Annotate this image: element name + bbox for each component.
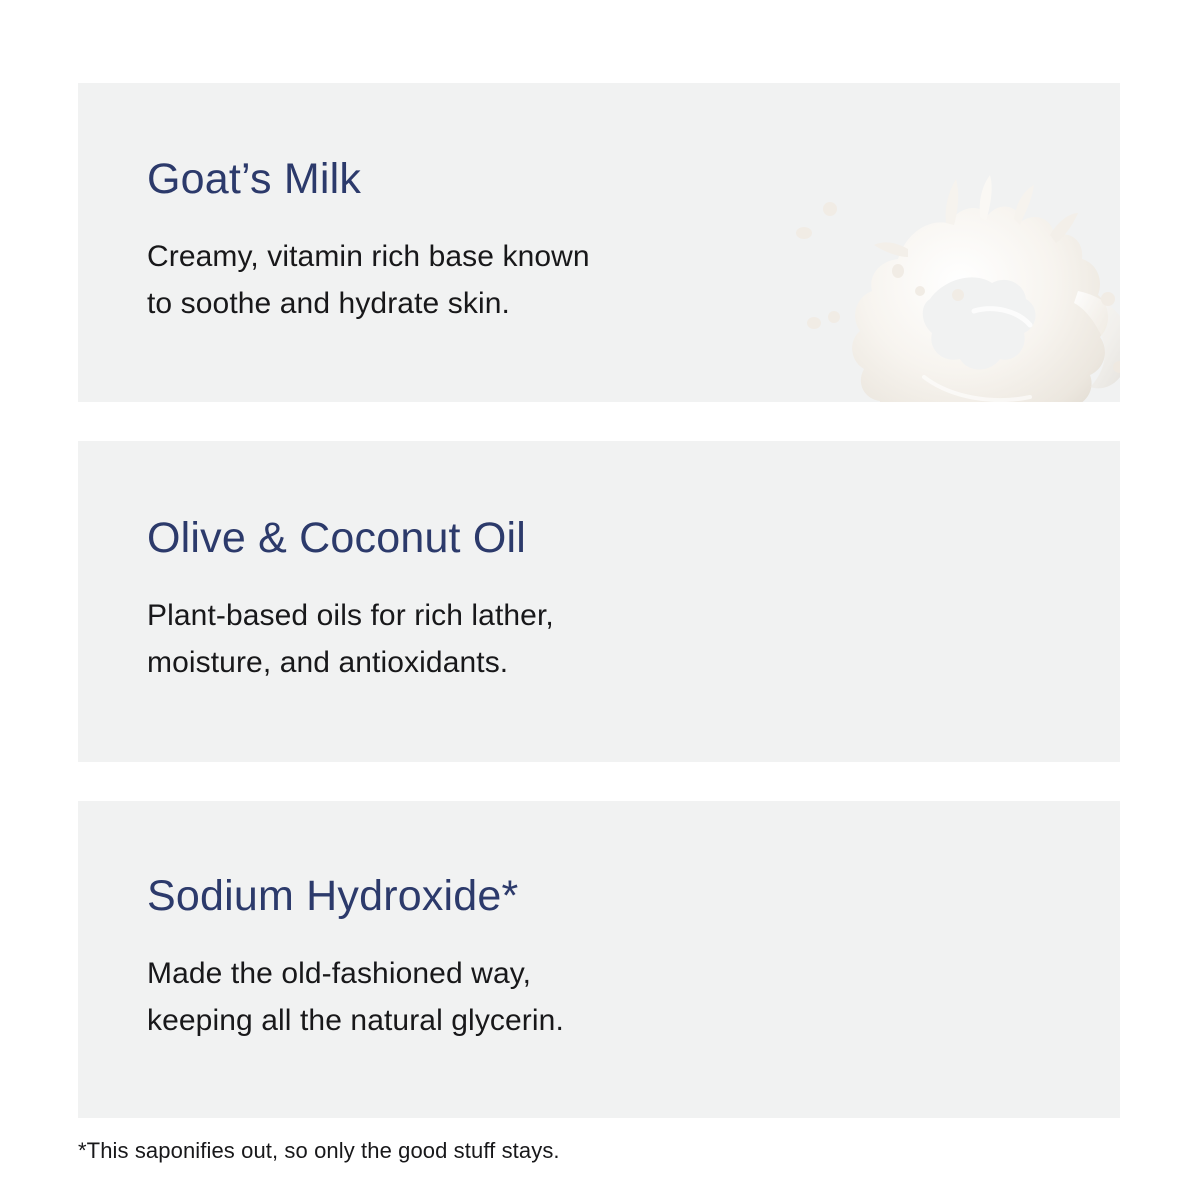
card-text-block: Goat’s Milk Creamy, vitamin rich base kn…	[147, 83, 707, 402]
ingredient-benefits-panel: Goat’s Milk Creamy, vitamin rich base kn…	[0, 0, 1200, 1200]
card-description-line: Made the old-fashioned way,	[147, 957, 531, 990]
card-title: Sodium Hydroxide*	[147, 875, 707, 918]
card-text-block: Olive & Coconut Oil Plant-based oils for…	[147, 441, 707, 762]
card-description-line: Creamy, vitamin rich base known	[147, 240, 590, 273]
milk-splash-image	[778, 171, 1120, 402]
card-title: Goat’s Milk	[147, 158, 707, 201]
card-description: Made the old-fashioned way,keeping all t…	[147, 950, 707, 1045]
card-description: Creamy, vitamin rich base knownto soothe…	[147, 233, 707, 328]
card-description-line: Plant-based oils for rich lather,	[147, 599, 554, 632]
card-title: Olive & Coconut Oil	[147, 517, 707, 560]
card-description-line: keeping all the natural glycerin.	[147, 1004, 564, 1037]
ingredient-card-sodium-hydroxide: Sodium Hydroxide* Made the old-fashioned…	[78, 801, 1120, 1118]
card-text-block: Sodium Hydroxide* Made the old-fashioned…	[147, 801, 707, 1118]
card-description-line: to soothe and hydrate skin.	[147, 287, 510, 320]
footnote-text: *This saponifies out, so only the good s…	[78, 1137, 560, 1166]
card-description: Plant-based oils for rich lather,moistur…	[147, 592, 707, 687]
ingredient-card-olive-coconut-oil: Olive & Coconut Oil Plant-based oils for…	[78, 441, 1120, 762]
ingredient-card-goats-milk: Goat’s Milk Creamy, vitamin rich base kn…	[78, 83, 1120, 402]
card-description-line: moisture, and antioxidants.	[147, 646, 508, 679]
